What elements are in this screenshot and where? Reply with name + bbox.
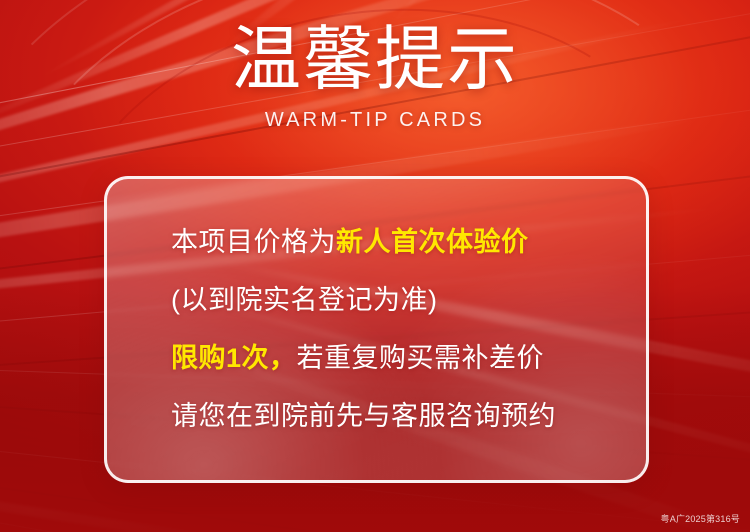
- card-line-1: 本项目价格为新人首次体验价: [171, 213, 626, 271]
- warm-tip-card: 本项目价格为新人首次体验价 (以到院实名登记为准) 限购1次，若重复购买需补差价…: [104, 176, 649, 483]
- page-subtitle: WARM-TIP CARDS: [0, 109, 750, 132]
- card-line-3-suffix: 若重复购买需补差价: [297, 343, 545, 373]
- card-line-4: 请您在到院前先与客服咨询预约: [171, 387, 626, 445]
- card-line-3: 限购1次，若重复购买需补差价: [171, 329, 626, 387]
- card-line-2: (以到院实名登记为准): [171, 271, 626, 329]
- card-line-3-highlight: 限购1次，: [171, 343, 297, 373]
- page-title: 温馨提示: [0, 24, 750, 95]
- card-line-2-prefix: (以到院实名登记为准): [171, 285, 437, 315]
- card-text-block: 本项目价格为新人首次体验价 (以到院实名登记为准) 限购1次，若重复购买需补差价…: [171, 213, 626, 445]
- card-line-1-prefix: 本项目价格为: [171, 227, 336, 257]
- poster-canvas: 温馨提示 WARM-TIP CARDS 本项目价格为新人首次体验价 (以到院实名…: [0, 0, 750, 532]
- poster-header: 温馨提示 WARM-TIP CARDS: [0, 24, 750, 132]
- license-number: 粤A广2025第316号: [661, 512, 740, 525]
- card-line-4-prefix: 请您在到院前先与客服咨询预约: [171, 401, 556, 431]
- card-line-1-highlight: 新人首次体验价: [336, 227, 529, 257]
